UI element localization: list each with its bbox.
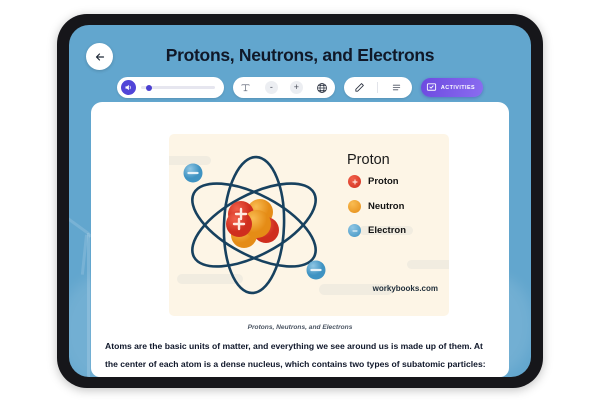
increase-text-size-button[interactable]: + bbox=[290, 81, 303, 94]
legend-item: Proton bbox=[348, 175, 406, 188]
globe-glyph bbox=[316, 82, 328, 94]
minus-icon bbox=[351, 227, 359, 235]
atom-diagram bbox=[169, 134, 343, 316]
pen-glyph bbox=[354, 82, 365, 93]
tablet-device-frame: Protons, Neutrons, and Electrons bbox=[57, 14, 543, 388]
annotation-group bbox=[344, 77, 412, 98]
monitor-check-icon bbox=[426, 82, 437, 93]
text-size-icon[interactable] bbox=[239, 81, 253, 95]
speaker-icon[interactable] bbox=[121, 80, 136, 95]
electron-dot bbox=[348, 224, 361, 237]
activities-label: ACTIVITIES bbox=[441, 85, 475, 91]
tablet-screen: Protons, Neutrons, and Electrons bbox=[69, 25, 531, 377]
volume-slider-knob[interactable] bbox=[146, 85, 152, 91]
watermark: workybooks.com bbox=[373, 284, 438, 293]
list-glyph bbox=[391, 82, 402, 93]
audio-control-group bbox=[117, 77, 224, 98]
legend-item: Neutron bbox=[348, 200, 406, 213]
legend-label: Proton bbox=[368, 176, 399, 187]
list-icon[interactable] bbox=[389, 81, 403, 95]
legend-label: Electron bbox=[368, 225, 406, 236]
reader-toolbar: - + bbox=[69, 77, 531, 98]
speaker-glyph bbox=[124, 83, 133, 92]
legend-item: Electron bbox=[348, 224, 406, 237]
pen-icon[interactable] bbox=[352, 81, 366, 95]
legend: Proton Neutron Electro bbox=[348, 175, 406, 237]
lesson-content-card: Proton Proton Neutron bbox=[91, 102, 509, 377]
atom-illustration: Proton Proton Neutron bbox=[169, 134, 449, 316]
legend-title: Proton bbox=[347, 152, 390, 168]
neutron-dot bbox=[348, 200, 361, 213]
text-size-group: - + bbox=[233, 77, 335, 98]
screenshot-stage: Protons, Neutrons, and Electrons bbox=[0, 0, 600, 400]
figure-caption: Protons, Neutrons, and Electrons bbox=[91, 324, 509, 331]
plus-icon bbox=[351, 178, 359, 186]
proton-dot bbox=[348, 175, 361, 188]
toolbar-divider bbox=[377, 82, 378, 93]
lesson-body-text: Atoms are the basic units of matter, and… bbox=[105, 338, 495, 377]
decrease-text-size-button[interactable]: - bbox=[265, 81, 278, 94]
activities-button[interactable]: ACTIVITIES bbox=[421, 78, 483, 97]
page-title: Protons, Neutrons, and Electrons bbox=[69, 45, 531, 66]
legend-label: Neutron bbox=[368, 201, 404, 212]
globe-icon[interactable] bbox=[315, 81, 329, 95]
text-t-glyph bbox=[240, 82, 251, 93]
volume-slider[interactable] bbox=[141, 86, 215, 89]
